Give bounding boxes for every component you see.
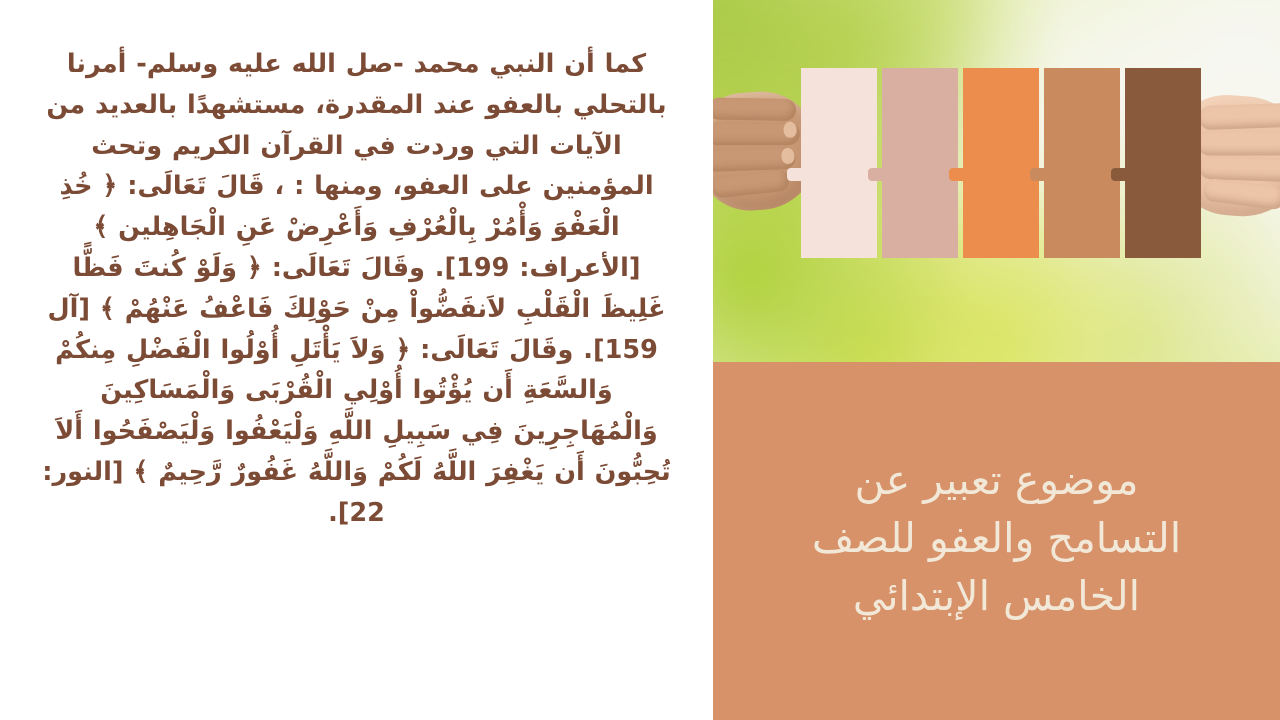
- title-panel: موضوع تعبير عن التسامح والعفو للصف الخام…: [713, 362, 1280, 720]
- slide-title: موضوع تعبير عن التسامح والعفو للصف الخام…: [747, 451, 1246, 626]
- right-column: موضوع تعبير عن التسامح والعفو للصف الخام…: [713, 0, 1280, 720]
- paper-person-1: [801, 68, 877, 258]
- body-paragraph: كما أن النبي محمد -صل الله عليه وسلم- أم…: [38, 44, 675, 534]
- body-text-column: كما أن النبي محمد -صل الله عليه وسلم- أم…: [0, 0, 713, 720]
- paper-people-chain: [801, 68, 1201, 258]
- slide-title-line-3: الخامس الإبتدائي: [853, 572, 1140, 620]
- paper-person-5: [1125, 68, 1201, 258]
- paper-chain-people-photo: [713, 0, 1280, 362]
- slide-title-line-1: موضوع تعبير عن: [855, 456, 1139, 504]
- paper-person-4: [1044, 68, 1120, 258]
- paper-person-3: [963, 68, 1039, 258]
- slide-root: كما أن النبي محمد -صل الله عليه وسلم- أم…: [0, 0, 1280, 720]
- slide-title-line-2: التسامح والعفو للصف: [812, 514, 1181, 562]
- paper-person-2: [882, 68, 958, 258]
